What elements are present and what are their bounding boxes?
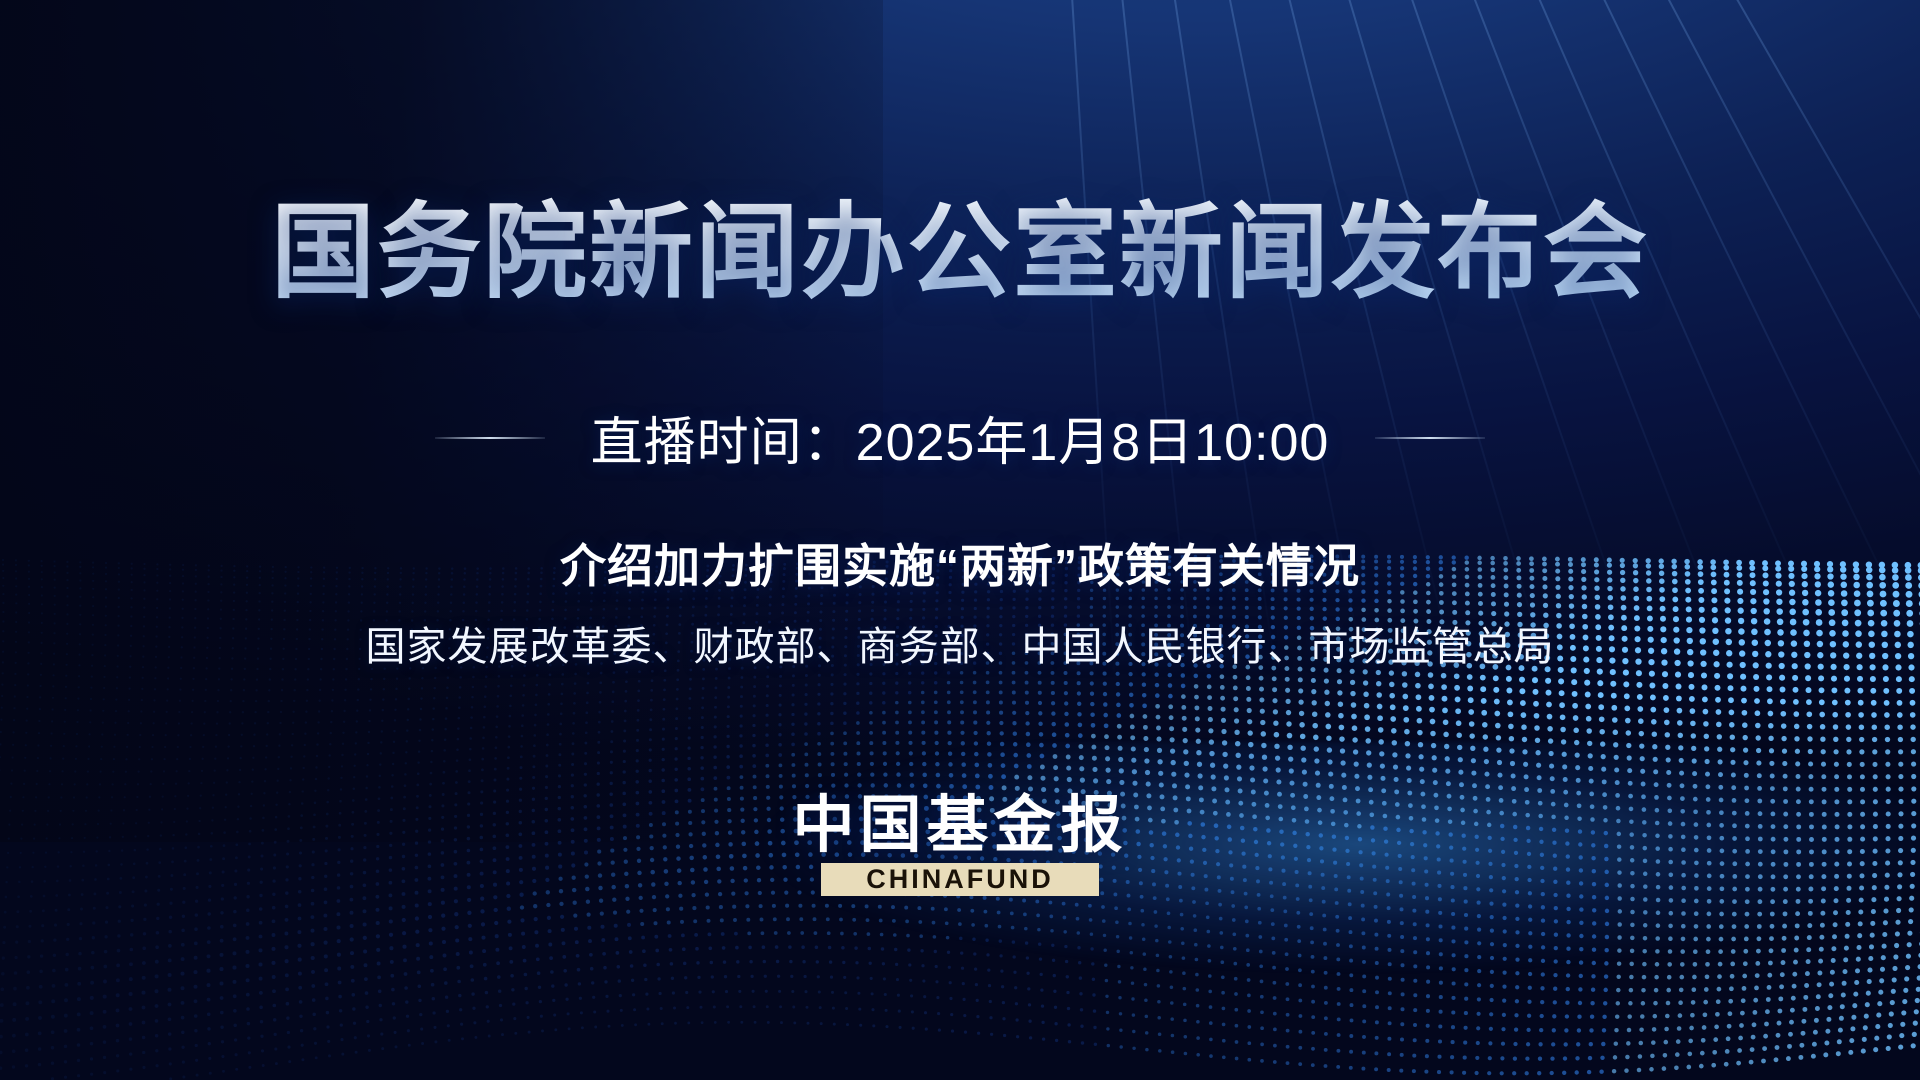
broadcast-time-text: 直播时间：2025年1月8日10:00 [591, 400, 1330, 475]
logo-name-cn: 中国基金报 [792, 795, 1127, 857]
line-left-decoration [435, 437, 545, 439]
broadcast-poster: 国务院新闻办公室新闻发布会 直播时间：2025年1月8日10:00 介绍加力扩围… [0, 0, 1920, 1080]
page-title: 国务院新闻办公室新闻发布会 [0, 196, 1920, 308]
broadcast-time-row: 直播时间：2025年1月8日10:00 [0, 400, 1920, 475]
chinafund-logo: 中国基金报 CHINAFUND [0, 795, 1920, 896]
line-right-decoration [1375, 437, 1485, 439]
logo-bar: CHINAFUND [821, 863, 1099, 896]
departments-text: 国家发展改革委、财政部、商务部、中国人民银行、市场监管总局 [0, 614, 1920, 672]
policy-topic-text: 介绍加力扩围实施“两新”政策有关情况 [0, 530, 1920, 596]
logo-name-en: CHINAFUND [866, 865, 1053, 893]
